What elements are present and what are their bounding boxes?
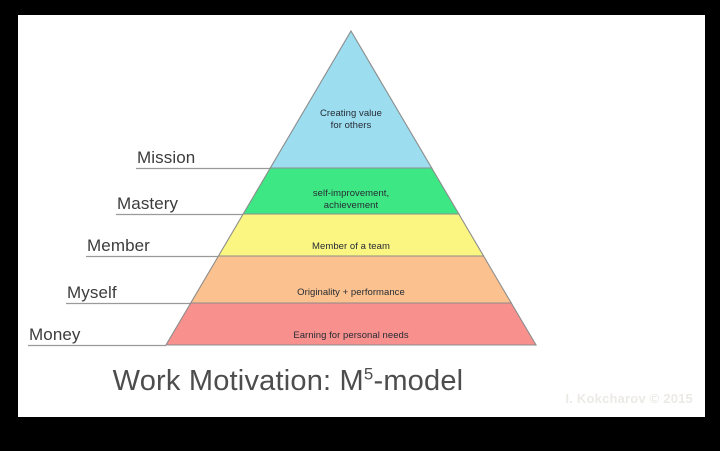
- category-label-mission[interactable]: Mission: [137, 148, 195, 168]
- credit-line: I. Kokcharov © 2015: [565, 391, 693, 406]
- band-caption-mastery: self-improvement, achievement: [313, 188, 389, 212]
- band-caption-myself: Originality + performance: [297, 287, 405, 299]
- band-caption-money: Earning for personal needs: [293, 330, 408, 342]
- band-caption-member: Member of a team: [312, 241, 390, 253]
- pyramid-diagram: [18, 15, 705, 417]
- category-label-member[interactable]: Member: [87, 236, 150, 256]
- category-label-money[interactable]: Money: [29, 325, 81, 345]
- category-label-mastery[interactable]: Mastery: [117, 194, 178, 214]
- band-caption-mission: Creating value for others: [320, 108, 382, 132]
- title-tail: -model: [373, 365, 463, 397]
- pyramid-band-mission[interactable]: [270, 31, 431, 168]
- figure-title: Work Motivation: M5-model Work Motivatio…: [18, 365, 558, 398]
- pyramid-figure: Mission Mastery Member Myself Money Crea…: [18, 15, 705, 417]
- title-main: Work Motivation: M: [113, 365, 364, 397]
- slide-canvas: Mission Mastery Member Myself Money Crea…: [18, 15, 705, 417]
- category-label-myself[interactable]: Myself: [67, 283, 117, 303]
- screenshot-root: Mission Mastery Member Myself Money Crea…: [0, 0, 720, 451]
